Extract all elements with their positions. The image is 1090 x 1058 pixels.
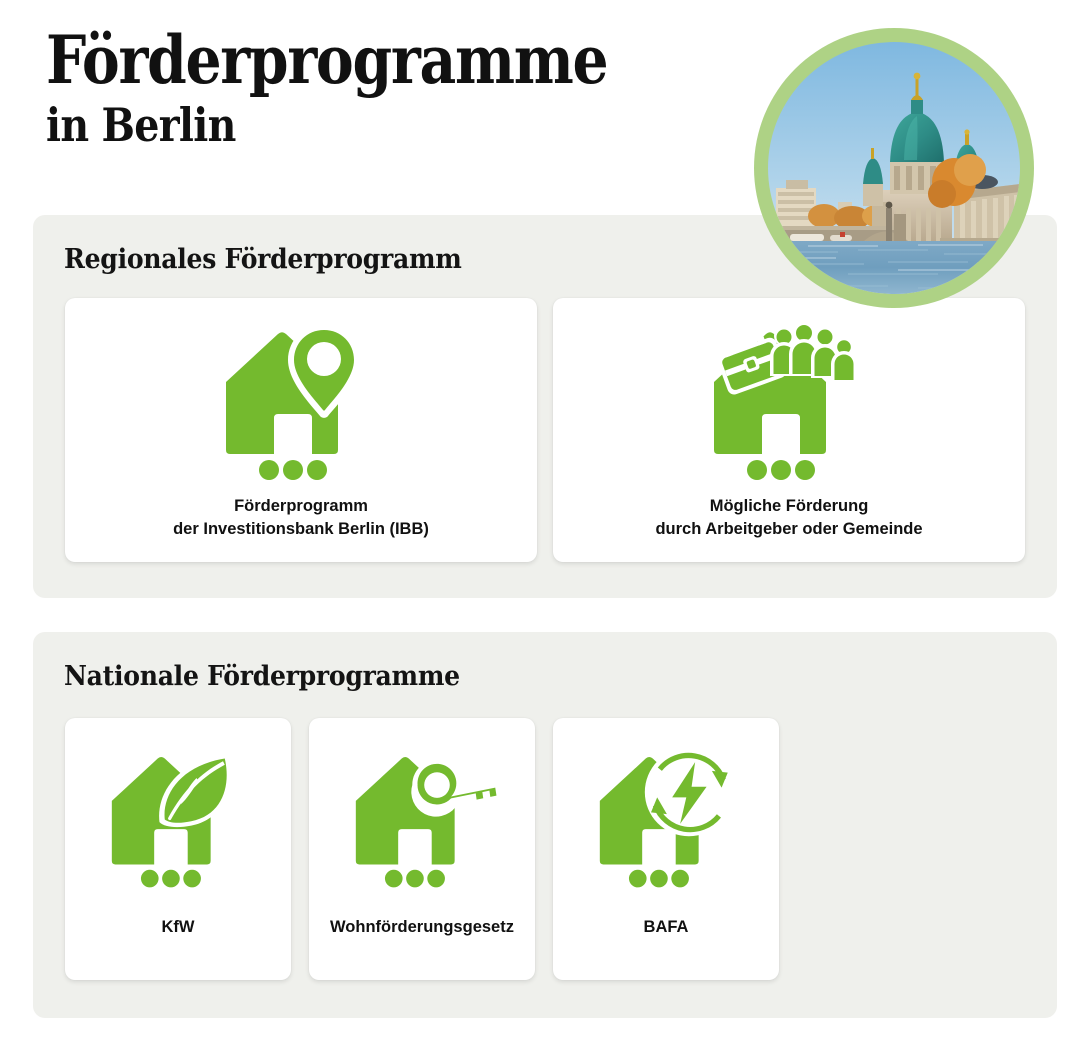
house-location-pin-icon: [216, 320, 386, 485]
page-subtitle: in Berlin: [46, 98, 648, 152]
card-kfw[interactable]: KfW: [65, 718, 291, 980]
card-ibb-label-line1: Förderprogramm: [173, 495, 429, 518]
card-wohnfoerderungsgesetz[interactable]: Wohnförderungsgesetz: [309, 718, 535, 980]
house-leaf-icon: [103, 744, 253, 894]
berlin-cathedral-photo: [754, 28, 1034, 308]
card-arbeitgeber[interactable]: Mögliche Förderung durch Arbeitgeber ode…: [553, 298, 1025, 562]
card-wohnfoerderungsgesetz-label-line1: Wohnförderungsgesetz: [330, 916, 514, 939]
card-arbeitgeber-label: Mögliche Förderung durch Arbeitgeber ode…: [655, 495, 922, 542]
card-bafa-label: BAFA: [644, 916, 689, 939]
card-arbeitgeber-label-line1: Mögliche Förderung: [655, 495, 922, 518]
card-arbeitgeber-label-line2: durch Arbeitgeber oder Gemeinde: [655, 518, 922, 541]
section-heading-national: Nationale Förderprogramme: [64, 661, 460, 692]
berlin-cathedral-illustration: [768, 42, 1020, 294]
card-wohnfoerderungsgesetz-label: Wohnförderungsgesetz: [330, 916, 514, 939]
house-briefcase-people-icon: [704, 320, 874, 485]
house-energy-recycle-icon: [591, 744, 741, 894]
card-ibb-label-line2: der Investitionsbank Berlin (IBB): [173, 518, 429, 541]
card-ibb[interactable]: Förderprogramm der Investitionsbank Berl…: [65, 298, 537, 562]
berlin-cathedral-photo-inner: [768, 42, 1020, 294]
card-bafa[interactable]: BAFA: [553, 718, 779, 980]
card-bafa-label-line1: BAFA: [644, 916, 689, 939]
card-ibb-label: Förderprogramm der Investitionsbank Berl…: [173, 495, 429, 542]
page-title: Förderprogramme: [46, 24, 648, 96]
house-key-icon: [347, 744, 497, 894]
card-kfw-label: KfW: [162, 916, 195, 939]
page-header: Förderprogramme in Berlin: [46, 24, 746, 152]
card-kfw-label-line1: KfW: [162, 916, 195, 939]
section-heading-regional: Regionales Förderprogramm: [64, 244, 462, 275]
